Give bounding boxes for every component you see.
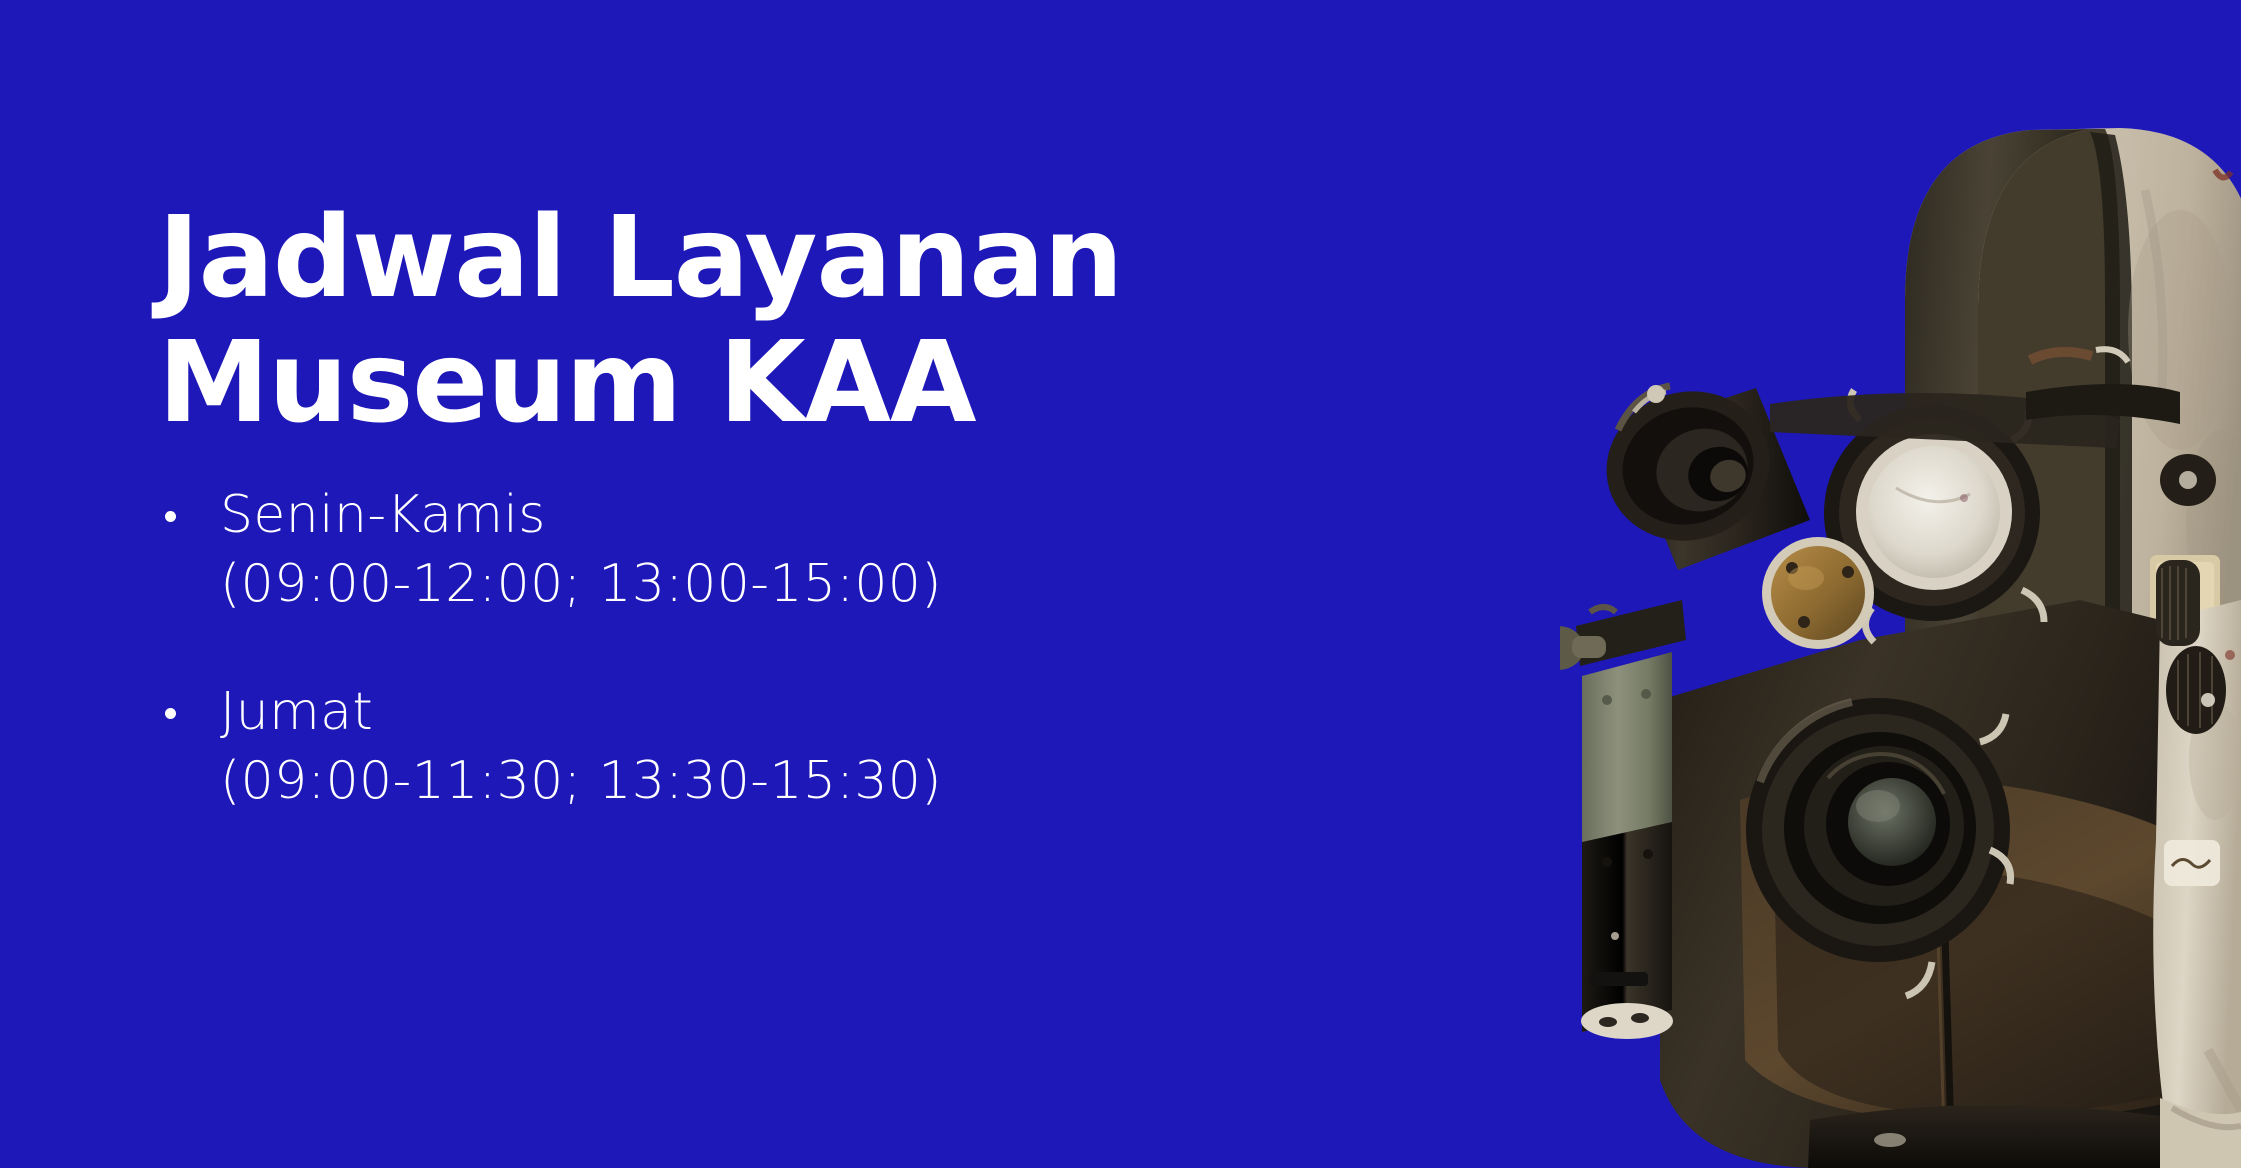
bullet-dot-icon [165, 511, 176, 522]
upper-left-lens [1589, 372, 1810, 570]
list-item: Jumat (09:00-11:30; 13:30-15:30) [158, 678, 1408, 815]
projector-base [1808, 1098, 2241, 1168]
side-panel [2153, 170, 2241, 1168]
schedule-day-label: Senin-Kamis [220, 481, 1408, 550]
page-title: Jadwal Layanan Museum KAA [158, 196, 1408, 447]
projector-image [1560, 0, 2241, 1168]
left-vertical-tube [1560, 600, 1686, 1039]
projector-illustration [1560, 0, 2241, 1168]
brass-plate [1762, 537, 1874, 649]
upper-right-lens [1824, 390, 2044, 642]
top-arm [1770, 349, 2180, 448]
film-reel-housing [1905, 128, 2241, 740]
bullet-dot-icon [165, 708, 176, 719]
schedule-text-column: Jadwal Layanan Museum KAA Senin-Kamis (0… [158, 196, 1408, 815]
main-projection-lens [1746, 698, 2011, 996]
schedule-hours-label: (09:00-11:30; 13:30-15:30) [220, 747, 1408, 816]
control-knobs [2156, 454, 2226, 734]
schedule-day-label: Jumat [220, 678, 1408, 747]
list-item: Senin-Kamis (09:00-12:00; 13:00-15:00) [158, 481, 1408, 618]
schedule-hours-label: (09:00-12:00; 13:00-15:00) [220, 550, 1408, 619]
projector-body [1660, 600, 2241, 1168]
slide-canvas: Jadwal Layanan Museum KAA Senin-Kamis (0… [0, 0, 2241, 1168]
schedule-list: Senin-Kamis (09:00-12:00; 13:00-15:00) J… [158, 481, 1408, 816]
